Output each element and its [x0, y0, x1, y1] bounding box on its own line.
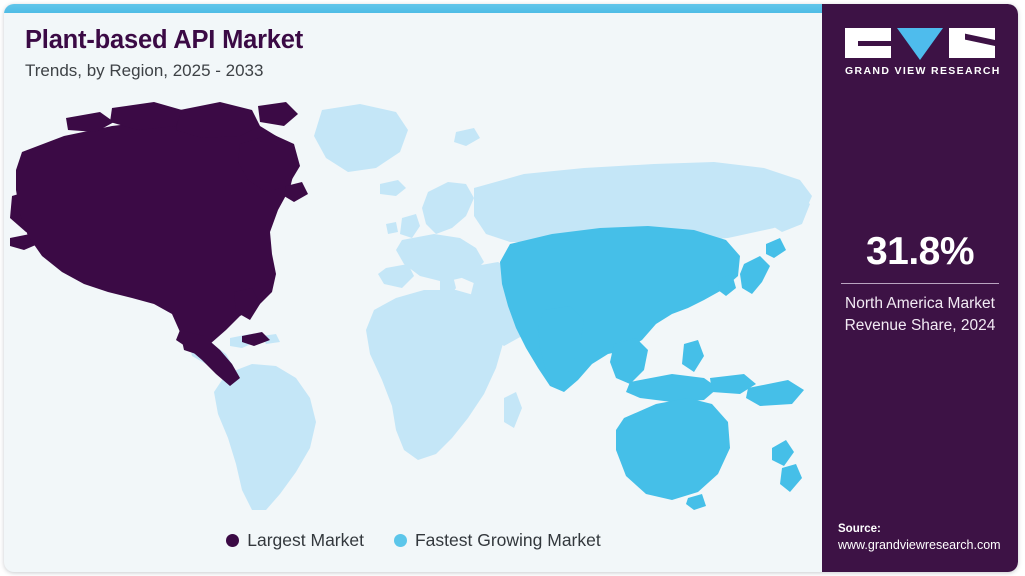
infographic-canvas: Plant-based API Market Trends, by Region…	[0, 0, 1025, 576]
world-map-svg	[4, 92, 823, 512]
map-legend: Largest Market Fastest Growing Market	[4, 532, 823, 550]
stat-caption-line-2: Revenue Share, 2024	[822, 315, 1018, 337]
logo-letter-r-icon	[949, 28, 995, 58]
stat-value: 31.8%	[822, 232, 1018, 273]
world-map	[4, 92, 823, 512]
header: Plant-based API Market Trends, by Region…	[25, 26, 725, 82]
page-subtitle: Trends, by Region, 2025 - 2033	[25, 61, 725, 81]
logo-wordmark: GRAND VIEW RESEARCH	[845, 65, 995, 77]
legend-item-fastest-growing-market: Fastest Growing Market	[394, 532, 601, 550]
main-card: Plant-based API Market Trends, by Region…	[4, 4, 1018, 572]
source-label: Source:	[838, 522, 1018, 538]
stat-divider	[841, 283, 999, 284]
legend-label: Fastest Growing Market	[415, 532, 601, 550]
brand-logo: GRAND VIEW RESEARCH	[845, 28, 995, 77]
legend-dot-icon	[226, 534, 239, 547]
legend-dot-icon	[394, 534, 407, 547]
source-block: Source: www.grandviewresearch.com	[838, 522, 1018, 554]
logo-letter-g-icon	[845, 28, 891, 58]
stat-caption-line-1: North America Market	[822, 293, 1018, 315]
page-title: Plant-based API Market	[25, 26, 725, 55]
side-panel: GRAND VIEW RESEARCH 31.8% North America …	[822, 4, 1018, 572]
legend-item-largest-market: Largest Market	[226, 532, 364, 550]
source-url[interactable]: www.grandviewresearch.com	[838, 537, 1018, 554]
top-accent-bar	[4, 4, 823, 13]
legend-label: Largest Market	[247, 532, 364, 550]
logo-marks	[845, 28, 995, 58]
stat-block: 31.8% North America Market Revenue Share…	[822, 232, 1018, 338]
logo-letter-v-triangle-icon	[897, 28, 943, 60]
